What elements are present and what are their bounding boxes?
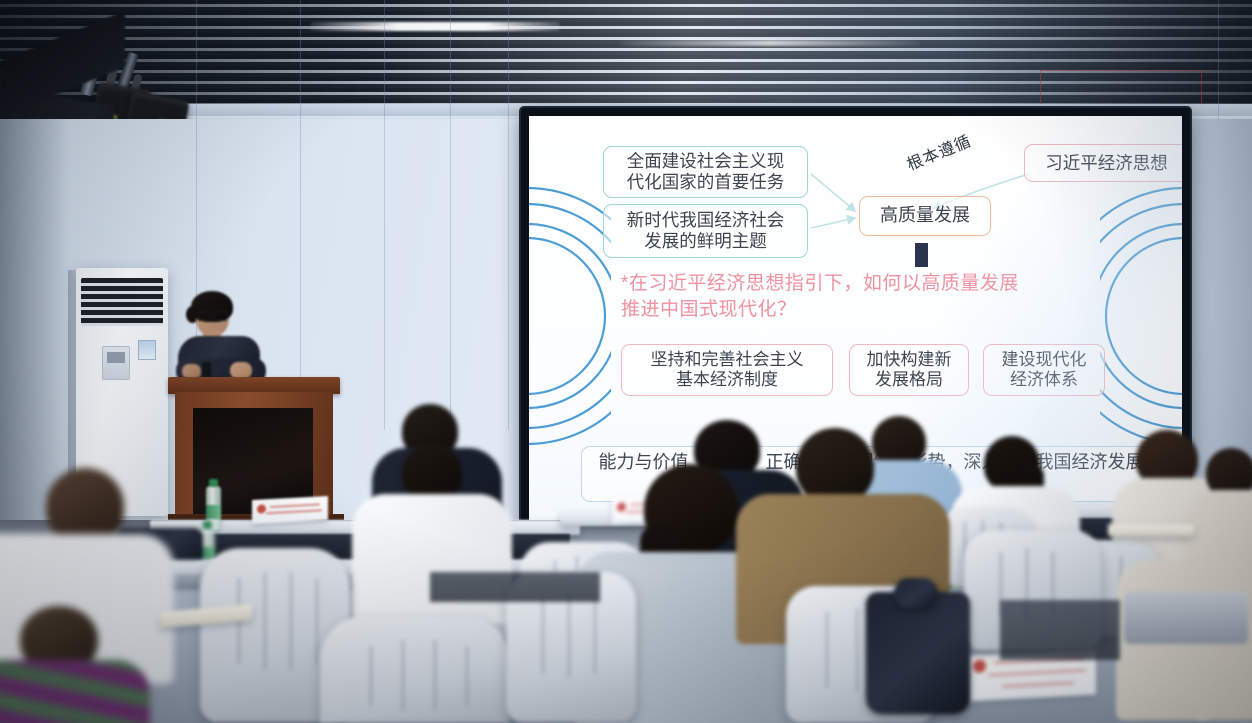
attendee-head [46, 468, 124, 544]
desk-front-shadow [430, 572, 600, 602]
chair-seat [1124, 592, 1248, 644]
wristwatch-icon [202, 362, 211, 377]
ceiling-strip-light [310, 22, 560, 31]
table-name-placard [252, 496, 328, 524]
air-conditioner-label-sticker [138, 340, 156, 360]
glasses-icon [198, 311, 211, 321]
ceiling-strip-light-secondary [620, 40, 920, 46]
glasses-icon [214, 311, 227, 321]
attendee-head [796, 428, 874, 504]
slide-box-pillar-modern-economic-system[interactable]: 建设现代化 经济体系 [983, 344, 1105, 396]
slide-box-theme[interactable]: 新时代我国经济社会 发展的鲜明主题 [603, 204, 808, 258]
notebook [1108, 524, 1194, 536]
slide-box-high-quality-development[interactable]: 高质量发展 [859, 196, 991, 236]
air-vent-louvers-icon [81, 278, 163, 326]
wall-panel-seam [300, 0, 301, 430]
wall-panel-seam [384, 0, 385, 430]
air-conditioner-display [102, 346, 130, 380]
slide-box-primary-task[interactable]: 全面建设社会主义现 代化国家的首要任务 [603, 146, 808, 198]
chair [320, 616, 510, 723]
wall-panel-seam [508, 0, 509, 430]
slide-box-xi-economic-thought[interactable]: 习近平经济思想 [1024, 144, 1182, 182]
ceiling-red-frame-detail [1040, 70, 1202, 106]
text-cursor-marker [915, 243, 928, 267]
wall-panel-seam [450, 0, 451, 430]
backpack-handle [894, 578, 938, 608]
slide-question-text: *在习近平经济思想指引下，如何以高质量发展 推进中国式现代化？ [621, 271, 1101, 322]
slide-box-pillar-new-development-pattern[interactable]: 加快构建新 发展格局 [849, 344, 969, 396]
backpack [866, 592, 970, 714]
lecture-hall-screenshot: 根本遵循 全面建设社会主义现 代化国家的首要任务 新时代我国经济社会 发展的鲜明… [0, 0, 1252, 723]
attendee-torso [0, 660, 150, 723]
desk-front-shadow [1000, 600, 1120, 660]
attendee-torso [352, 494, 512, 624]
slide-box-pillar-basic-economic-system[interactable]: 坚持和完善社会主义 基本经济制度 [621, 344, 833, 396]
